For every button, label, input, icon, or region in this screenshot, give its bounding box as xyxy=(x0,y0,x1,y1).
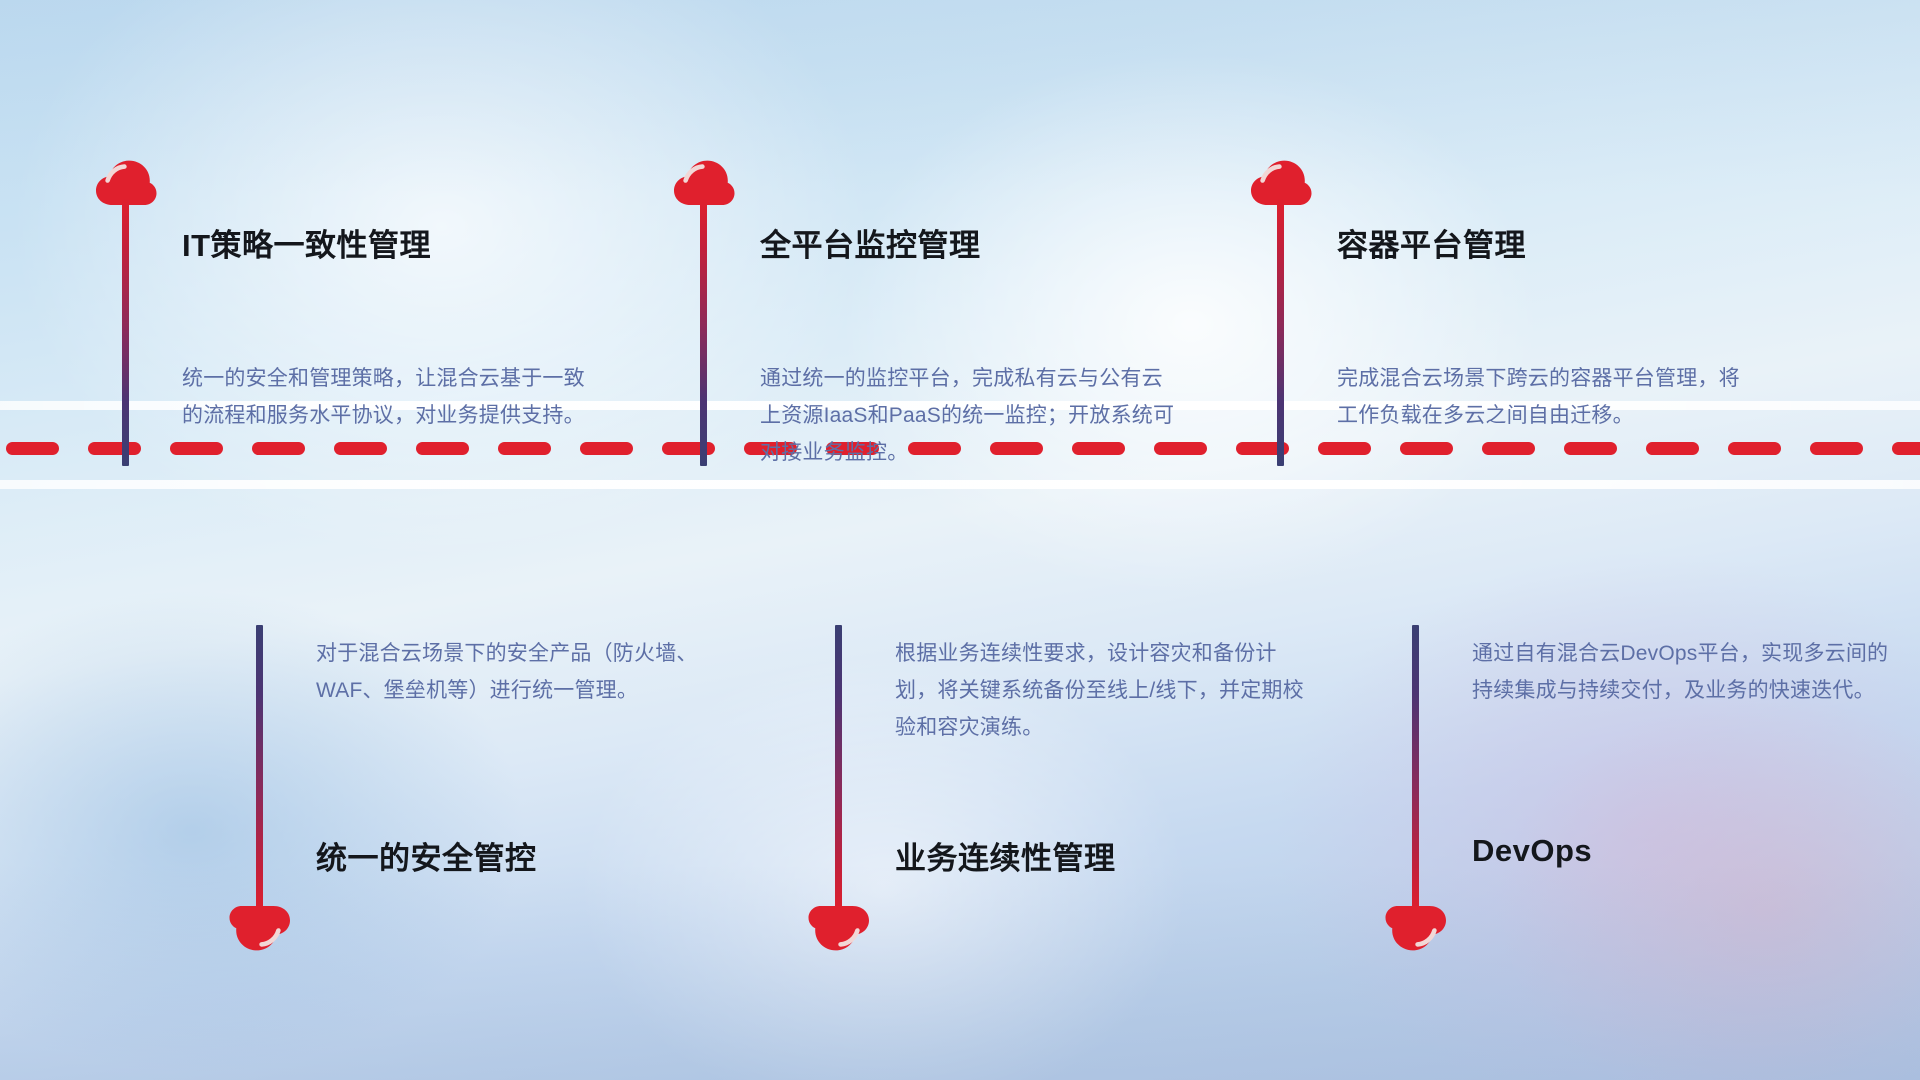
item-description: 统一的安全和管理策略，让混合云基于一致的流程和服务水平协议，对业务提供支持。 xyxy=(182,360,602,434)
pin-connector-line xyxy=(122,198,129,466)
pin-connector-line xyxy=(835,625,842,915)
road-dash-segment xyxy=(6,442,59,455)
pin-connector-line xyxy=(1277,198,1284,466)
item-title: IT策略一致性管理 xyxy=(182,220,431,265)
road-dash-segment xyxy=(1400,442,1453,455)
pin-connector-line xyxy=(256,625,263,915)
item-description: 通过统一的监控平台，完成私有云与公有云上资源IaaS和PaaS的统一监控；开放系… xyxy=(760,360,1180,471)
road-dash-segment xyxy=(252,442,305,455)
item-description: 通过自有混合云DevOps平台，实现多云间的持续集成与持续交付，及业务的快速迭代… xyxy=(1472,635,1892,709)
road-dash-segment xyxy=(416,442,469,455)
pin-connector-line xyxy=(700,198,707,466)
road-edge-line-bottom xyxy=(0,480,1920,489)
item-description: 根据业务连续性要求，设计容灾和备份计划，将关键系统备份至线上/线下，并定期校验和… xyxy=(895,635,1315,746)
item-description: 对于混合云场景下的安全产品（防火墙、WAF、堡垒机等）进行统一管理。 xyxy=(316,635,736,709)
road-dash-segment xyxy=(88,442,141,455)
road-dash-segment xyxy=(498,442,551,455)
cloud-icon xyxy=(229,905,291,951)
road-dash-segment xyxy=(334,442,387,455)
road-dash-segment xyxy=(170,442,223,455)
road-dash-segment xyxy=(580,442,633,455)
road-dash-segment xyxy=(1728,442,1781,455)
item-title: 业务连续性管理 xyxy=(895,833,1116,878)
item-description: 完成混合云场景下跨云的容器平台管理，将工作负载在多云之间自由迁移。 xyxy=(1337,360,1757,434)
pin-connector-line xyxy=(1412,625,1419,915)
cloud-icon xyxy=(1385,905,1447,951)
road-dash-segment xyxy=(1318,442,1371,455)
item-title: 容器平台管理 xyxy=(1337,220,1526,265)
cloud-icon xyxy=(808,905,870,951)
road-dash-segment xyxy=(1892,442,1920,455)
road-dash-segment xyxy=(1810,442,1863,455)
item-title: 统一的安全管控 xyxy=(316,833,537,878)
road-dash-segment xyxy=(1564,442,1617,455)
road-dash-segment xyxy=(662,442,715,455)
item-title: 全平台监控管理 xyxy=(760,220,981,265)
infographic-canvas: IT策略一致性管理 统一的安全和管理策略，让混合云基于一致的流程和服务水平协议，… xyxy=(0,0,1920,1080)
road-dash-segment xyxy=(1482,442,1535,455)
item-title: DevOps xyxy=(1472,833,1592,869)
road-dash-segment xyxy=(1646,442,1699,455)
